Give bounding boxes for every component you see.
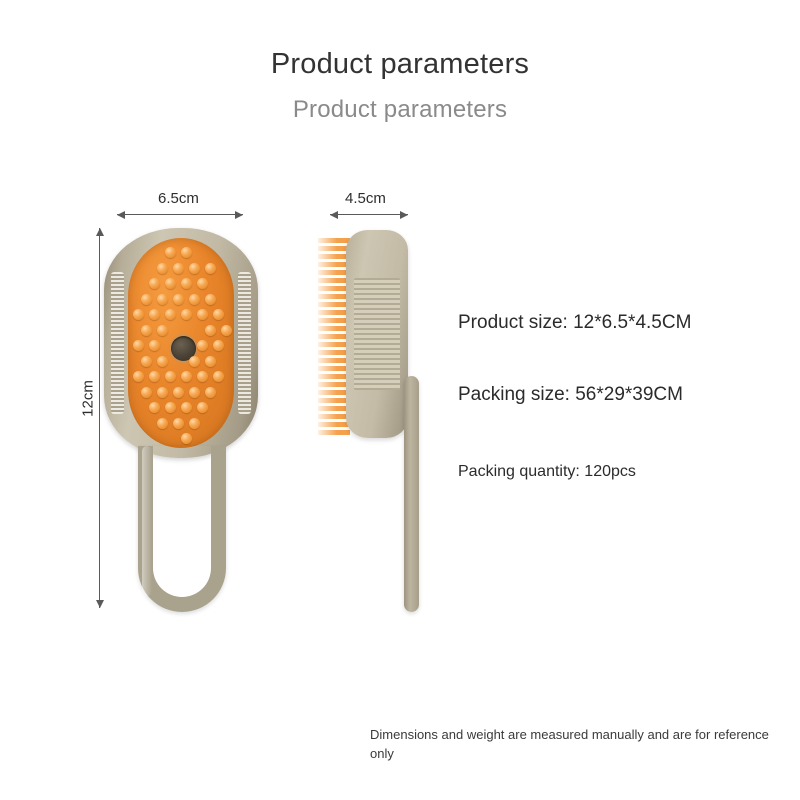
silicone-nub — [189, 387, 200, 398]
silicone-nub — [221, 325, 232, 336]
product-image-side-view — [318, 230, 428, 612]
dimension-label-height: 12cm — [80, 377, 97, 421]
silicone-nub — [181, 278, 192, 289]
page-title: Product parameters — [0, 48, 800, 81]
silicone-nub — [165, 402, 176, 413]
silicone-nub — [133, 309, 144, 320]
silicone-nub — [181, 247, 192, 258]
silicone-nub — [141, 387, 152, 398]
silicone-nub — [165, 278, 176, 289]
silicone-nub — [213, 371, 224, 382]
silicone-nub — [197, 402, 208, 413]
silicone-nub — [189, 263, 200, 274]
silicone-nub — [197, 340, 208, 351]
handle-side — [404, 376, 419, 612]
silicone-nub — [173, 418, 184, 429]
silicone-nub — [165, 371, 176, 382]
silicone-nub — [189, 356, 200, 367]
silicone-nub — [205, 356, 216, 367]
brush-head-front — [104, 228, 258, 458]
silicone-nub — [205, 294, 216, 305]
silicone-nub — [189, 294, 200, 305]
spec-packing-quantity: Packing quantity: 120pcs — [458, 463, 636, 481]
silicone-nub — [197, 371, 208, 382]
silicone-nub — [133, 340, 144, 351]
silicone-nub — [157, 356, 168, 367]
silicone-nub — [157, 294, 168, 305]
silicone-nub — [197, 278, 208, 289]
silicone-nub — [173, 263, 184, 274]
silicone-nub-pad — [128, 238, 234, 448]
spec-product-size: Product size: 12*6.5*4.5CM — [458, 312, 691, 334]
dimension-label-width: 6.5cm — [158, 190, 199, 207]
silicone-nub — [149, 340, 160, 351]
silicone-nub — [149, 278, 160, 289]
silicone-nub — [141, 325, 152, 336]
silicone-nub — [149, 402, 160, 413]
brush-head-side — [346, 230, 408, 438]
comb-teeth-left — [111, 272, 124, 414]
silicone-nub — [141, 294, 152, 305]
silicone-nub — [157, 325, 168, 336]
silicone-nub — [133, 371, 144, 382]
silicone-nub — [157, 263, 168, 274]
silicone-nub — [157, 418, 168, 429]
silicone-nub — [197, 309, 208, 320]
dimension-arrow-depth — [330, 214, 408, 215]
comb-ridges-side — [354, 278, 400, 390]
silicone-nub — [181, 309, 192, 320]
dimension-arrow-width — [117, 214, 243, 215]
silicone-nub — [205, 325, 216, 336]
silicone-nub — [157, 387, 168, 398]
comb-teeth-right — [238, 272, 251, 414]
silicone-nub — [173, 387, 184, 398]
dimension-label-depth: 4.5cm — [345, 190, 386, 207]
page-subtitle: Product parameters — [0, 96, 800, 124]
silicone-nub — [213, 340, 224, 351]
silicone-nub — [189, 418, 200, 429]
silicone-nub — [181, 433, 192, 444]
silicone-nub — [181, 402, 192, 413]
silicone-nub — [213, 309, 224, 320]
silicone-nub — [165, 309, 176, 320]
footnote-disclaimer: Dimensions and weight are measured manua… — [370, 726, 780, 764]
silicone-nub — [181, 371, 192, 382]
silicone-nub — [205, 387, 216, 398]
dimension-arrow-height — [99, 228, 100, 608]
spec-packing-size: Packing size: 56*29*39CM — [458, 384, 683, 406]
silicone-nub — [165, 247, 176, 258]
silicone-nub — [141, 356, 152, 367]
silicone-nub — [173, 294, 184, 305]
product-parameters-page: Product parameters Product parameters 6.… — [0, 0, 800, 800]
silicone-nub — [149, 371, 160, 382]
silicone-nub — [149, 309, 160, 320]
handle-highlight — [142, 446, 152, 596]
silicone-nub — [205, 263, 216, 274]
product-image-front-view — [104, 228, 258, 612]
